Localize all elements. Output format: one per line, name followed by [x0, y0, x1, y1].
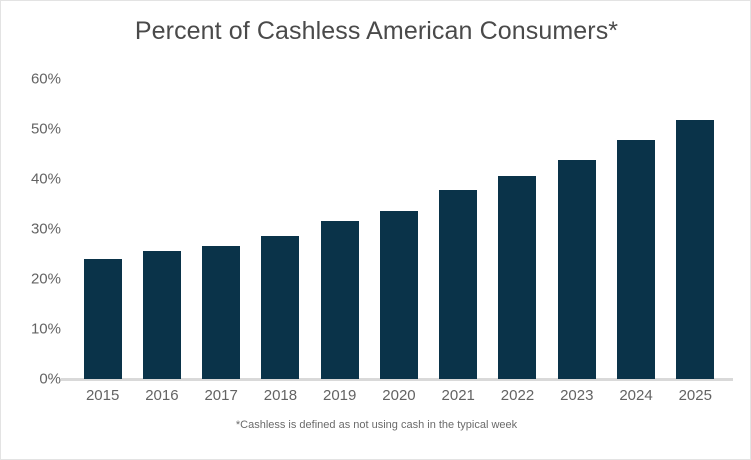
- bar-slot: [132, 79, 191, 379]
- x-axis-tick-label: 2019: [310, 387, 369, 413]
- bar-2023[interactable]: [558, 160, 596, 379]
- x-axis-tick-label: 2022: [488, 387, 547, 413]
- bar-2022[interactable]: [498, 176, 536, 380]
- bar-2021[interactable]: [439, 190, 477, 379]
- x-axis-tick-label: 2015: [73, 387, 132, 413]
- bar-slot: [73, 79, 132, 379]
- y-axis-tick-label: 30%: [31, 221, 61, 238]
- bar-2024[interactable]: [617, 140, 655, 379]
- y-axis-tick-label: 60%: [31, 71, 61, 88]
- bar-slot: [547, 79, 606, 379]
- y-axis-tick-label: 0%: [39, 371, 61, 388]
- chart-title: Percent of Cashless American Consumers*: [1, 17, 751, 46]
- x-axis: 2015201620172018201920202021202220232024…: [73, 387, 725, 413]
- bar-2018[interactable]: [261, 236, 299, 380]
- x-axis-tick-label: 2021: [429, 387, 488, 413]
- x-axis-tick-label: 2023: [547, 387, 606, 413]
- x-axis-tick-label: 2024: [606, 387, 665, 413]
- x-axis-tick-label: 2025: [666, 387, 725, 413]
- x-axis-tick-label: 2017: [192, 387, 251, 413]
- x-axis-tick-label: 2016: [132, 387, 191, 413]
- bar-slot: [369, 79, 428, 379]
- bar-2020[interactable]: [380, 211, 418, 379]
- bar-2015[interactable]: [84, 259, 122, 379]
- y-axis-tick-label: 10%: [31, 321, 61, 338]
- x-axis-tick-label: 2020: [369, 387, 428, 413]
- bar-slot: [666, 79, 725, 379]
- y-axis-tick-label: 40%: [31, 171, 61, 188]
- bar-slot: [192, 79, 251, 379]
- bar-2025[interactable]: [676, 120, 714, 379]
- y-axis-tick-label: 50%: [31, 121, 61, 138]
- bar-slot: [606, 79, 665, 379]
- y-axis-tick-label: 20%: [31, 271, 61, 288]
- x-axis-tick-label: 2018: [251, 387, 310, 413]
- bar-series: [73, 79, 725, 379]
- bar-2019[interactable]: [321, 221, 359, 380]
- chart-container: Percent of Cashless American Consumers* …: [0, 0, 751, 460]
- y-axis: 0%10%20%30%40%50%60%: [1, 79, 73, 379]
- bar-2017[interactable]: [202, 246, 240, 379]
- bar-slot: [310, 79, 369, 379]
- bar-slot: [251, 79, 310, 379]
- bar-slot: [488, 79, 547, 379]
- bar-slot: [429, 79, 488, 379]
- chart-footnote: *Cashless is defined as not using cash i…: [1, 419, 751, 431]
- bar-2016[interactable]: [143, 251, 181, 380]
